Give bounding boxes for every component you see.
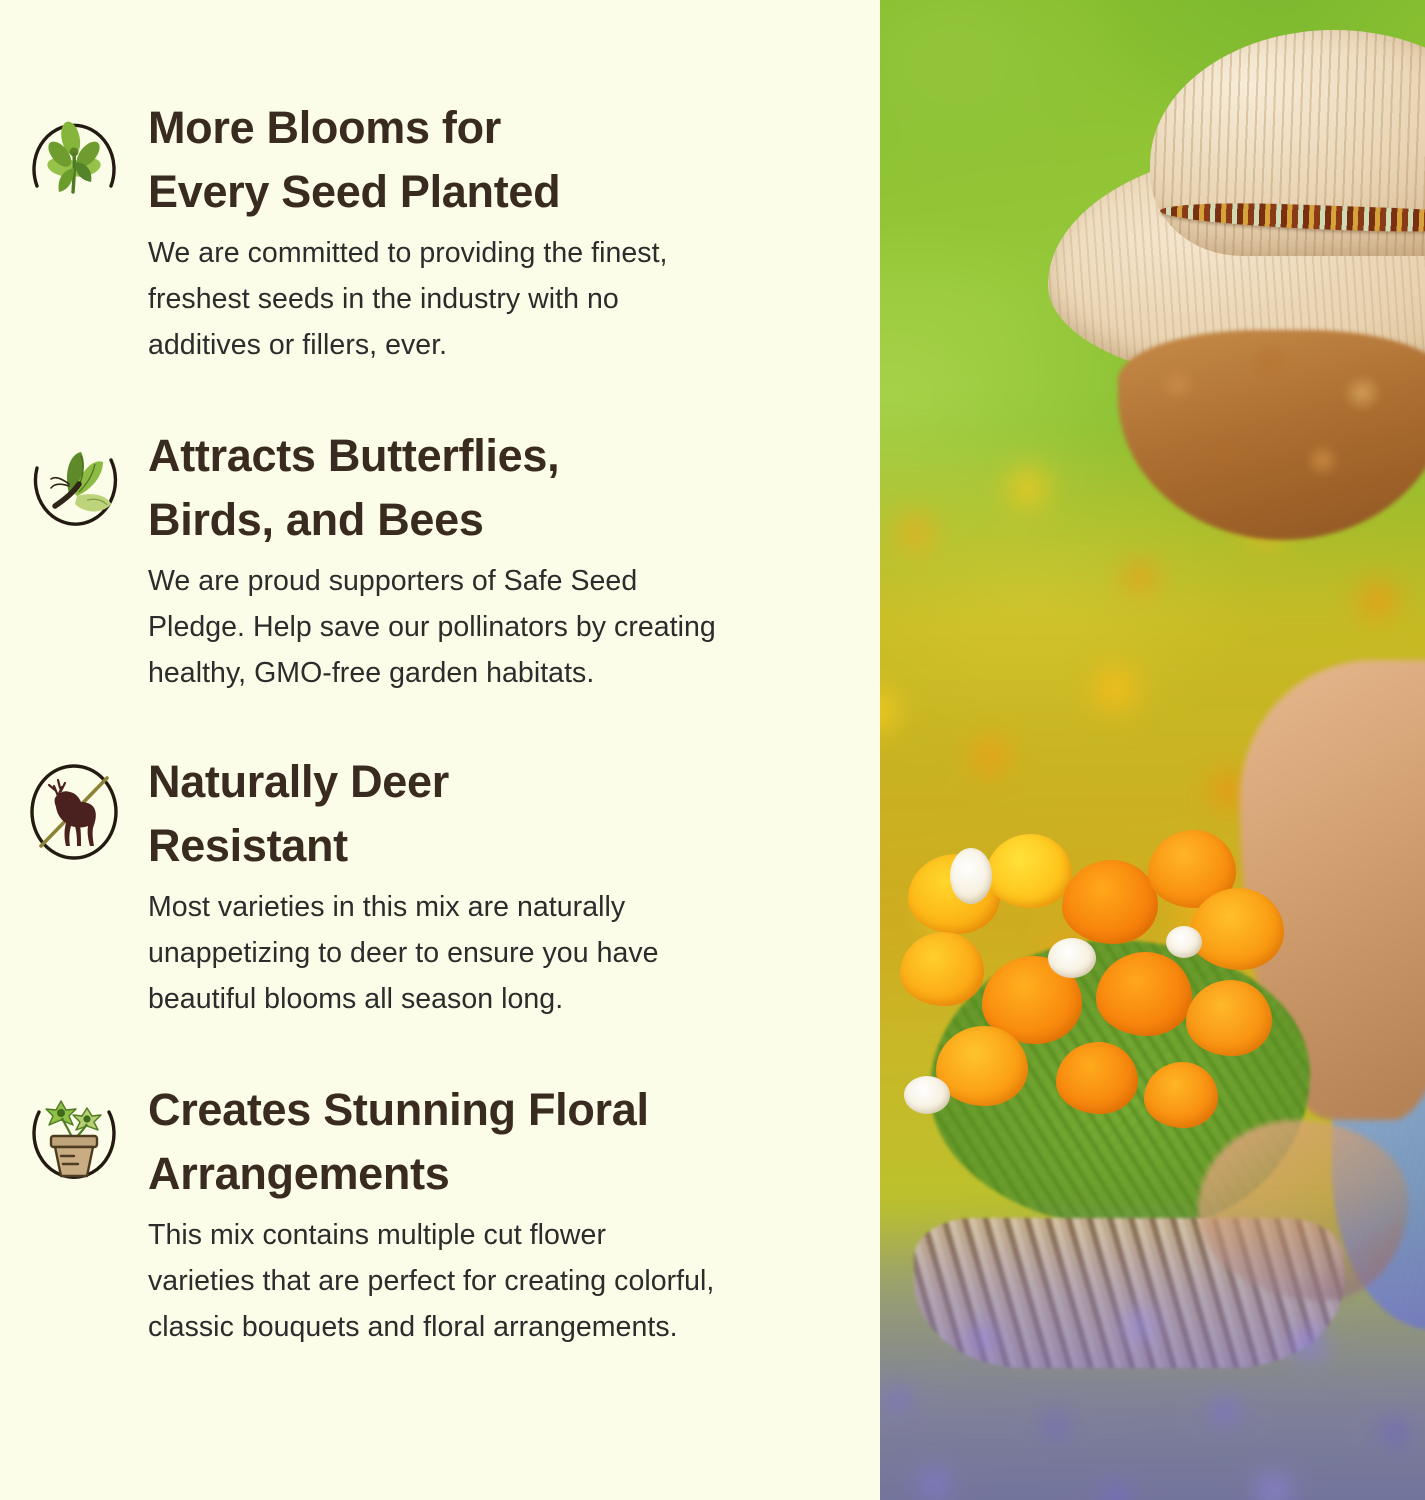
benefit-title: Attracts Butterflies, Birds, and Bees xyxy=(148,424,836,552)
poppy-bloom xyxy=(1190,888,1284,970)
benefit-text-deer-resistant: Naturally Deer Resistant Most varieties … xyxy=(148,750,880,1022)
product-benefits-infographic: More Blooms for Every Seed Planted We ar… xyxy=(0,0,1425,1500)
benefit-text-attracts-pollinators: Attracts Butterflies, Birds, and Bees We… xyxy=(148,424,880,696)
poppy-bloom xyxy=(900,932,984,1006)
benefit-item-deer-resistant: Naturally Deer Resistant Most varieties … xyxy=(0,750,880,1022)
white-bloom xyxy=(904,1076,950,1114)
poppy-bloom xyxy=(986,834,1072,908)
benefit-body: This mix contains multiple cut flower va… xyxy=(148,1212,836,1350)
photo-stage xyxy=(880,0,1425,1500)
purple-foreground-flowers xyxy=(880,1200,1425,1500)
benefits-panel: More Blooms for Every Seed Planted We ar… xyxy=(0,0,880,1500)
benefit-body: Most varieties in this mix are naturally… xyxy=(148,884,836,1022)
white-bloom xyxy=(1048,938,1096,978)
benefit-text-more-blooms: More Blooms for Every Seed Planted We ar… xyxy=(148,96,880,368)
benefit-title: More Blooms for Every Seed Planted xyxy=(148,96,836,224)
white-bloom xyxy=(950,848,992,904)
white-bloom xyxy=(1166,926,1202,958)
no-deer-circle-icon xyxy=(0,750,148,864)
benefit-item-floral-arrangements: Creates Stunning Floral Arrangements Thi… xyxy=(0,1078,880,1350)
poppy-bloom xyxy=(1062,860,1158,944)
flower-circle-icon xyxy=(0,96,148,210)
benefit-body: We are proud supporters of Safe Seed Ple… xyxy=(148,558,836,696)
poppy-bloom xyxy=(1056,1042,1138,1114)
gardener-with-poppy-bouquet-photo xyxy=(880,0,1425,1500)
benefit-text-floral-arrangements: Creates Stunning Floral Arrangements Thi… xyxy=(148,1078,880,1350)
poppy-bloom xyxy=(1144,1062,1218,1128)
potted-plant-circle-icon xyxy=(0,1078,148,1192)
benefit-title: Naturally Deer Resistant xyxy=(148,750,836,878)
poppy-bloom xyxy=(1186,980,1272,1056)
benefit-title: Creates Stunning Floral Arrangements xyxy=(148,1078,836,1206)
butterfly-circle-icon xyxy=(0,424,148,538)
poppy-bloom xyxy=(1096,952,1192,1036)
benefit-item-more-blooms: More Blooms for Every Seed Planted We ar… xyxy=(0,96,880,368)
benefit-item-attracts-pollinators: Attracts Butterflies, Birds, and Bees We… xyxy=(0,424,880,696)
benefit-body: We are committed to providing the finest… xyxy=(148,230,836,368)
